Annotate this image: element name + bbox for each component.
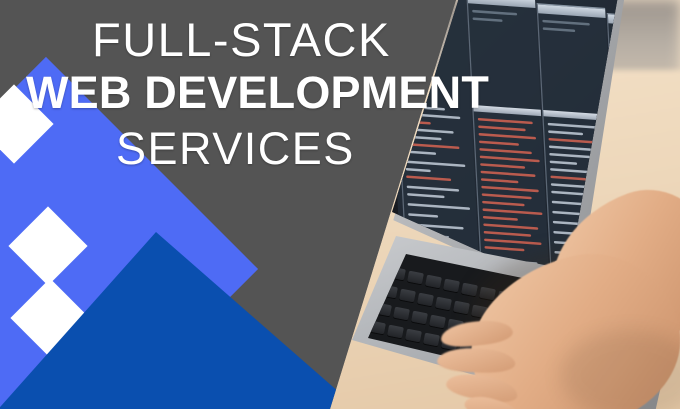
- pane-titlebar: [468, 0, 536, 8]
- promo-banner: FULL-STACK WEB DEVELOPMENT SERVICES: [0, 0, 680, 409]
- pane-titlebar: [538, 4, 606, 18]
